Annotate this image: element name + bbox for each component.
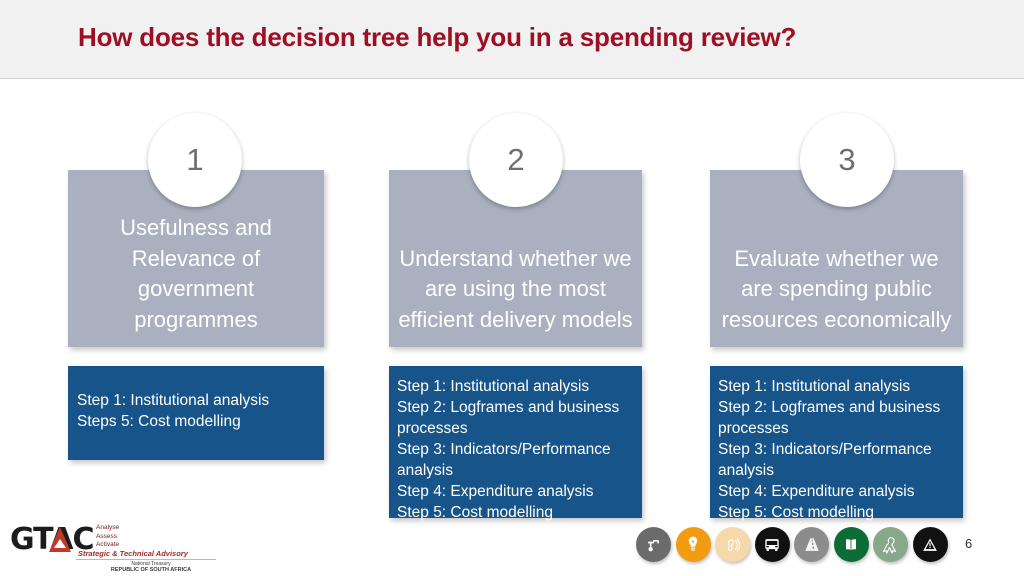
step-line: Step 4: Expenditure analysis [718, 481, 955, 502]
step-line: Steps 5: Cost modelling [77, 411, 316, 432]
objective-box-2-text: Understand whether we are using the most… [395, 244, 636, 336]
gtac-strapline: Strategic & Technical Advisory [78, 549, 188, 558]
step-line: Step 3: Indicators/Performance analysis [397, 439, 634, 481]
sound-hearing-icon [715, 527, 750, 562]
page-number: 6 [965, 536, 972, 551]
logo-divider [76, 559, 216, 560]
bus-transport-icon [755, 527, 790, 562]
warning-triangle-icon [913, 527, 948, 562]
gtac-triangle-notch-icon [54, 539, 66, 548]
step-line: Step 5: Cost modelling [718, 502, 955, 523]
step-line: Step 4: Expenditure analysis [397, 481, 634, 502]
gtac-tagwords: Analyse Assess Activate [96, 524, 119, 550]
gtac-tagword: Analyse [96, 524, 119, 533]
sector-icon-row [636, 527, 956, 565]
education-book-icon [834, 527, 869, 562]
step-line: Step 1: Institutional analysis [718, 376, 955, 397]
treasury-line-2: REPUBLIC OF SOUTH AFRICA [96, 567, 206, 573]
step-badge-3-label: 3 [838, 142, 855, 178]
step-line: Step 5: Cost modelling [397, 502, 634, 523]
page-title: How does the decision tree help you in a… [78, 22, 978, 53]
step-line: Step 1: Institutional analysis [397, 376, 634, 397]
steps-box-2: Step 1: Institutional analysis Step 2: L… [389, 366, 642, 518]
gtac-tagword: Assess [96, 533, 119, 542]
step-badge-3: 3 [800, 113, 894, 207]
objective-box-1-text: Usefulness and Relevance of government p… [74, 213, 318, 335]
water-tap-icon [636, 527, 671, 562]
step-badge-2-label: 2 [507, 142, 524, 178]
step-line: Step 3: Indicators/Performance analysis [718, 439, 955, 481]
health-ribbon-icon [873, 527, 908, 562]
steps-box-1: Step 1: Institutional analysis Steps 5: … [68, 366, 324, 460]
step-badge-2: 2 [469, 113, 563, 207]
step-badge-1: 1 [148, 113, 242, 207]
step-line: Step 1: Institutional analysis [77, 390, 316, 411]
step-line: Step 2: Logframes and business processes [718, 397, 955, 439]
step-badge-1-label: 1 [186, 142, 203, 178]
energy-lightbulb-icon [676, 527, 711, 562]
step-line: Step 2: Logframes and business processes [397, 397, 634, 439]
treasury-mark: National Treasury REPUBLIC OF SOUTH AFRI… [96, 561, 206, 573]
steps-box-3: Step 1: Institutional analysis Step 2: L… [710, 366, 963, 518]
road-icon [794, 527, 829, 562]
gtac-logo: GTAC Analyse Assess Activate Strategic &… [8, 521, 218, 571]
objective-box-3-text: Evaluate whether we are spending public … [716, 244, 957, 336]
